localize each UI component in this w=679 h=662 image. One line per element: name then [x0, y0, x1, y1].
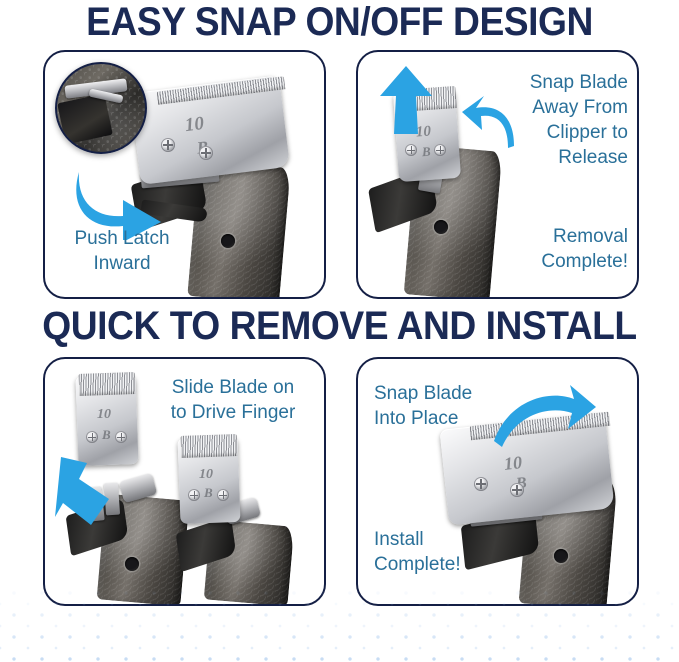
page-title-primary: EASY SNAP ON/OFF DESIGN	[24, 0, 655, 45]
blade-screw-right	[217, 489, 229, 501]
blade-screw-left	[405, 144, 417, 156]
blade-teeth	[79, 372, 136, 396]
blade-screw-left	[474, 477, 488, 491]
blade-screw-right	[115, 431, 127, 443]
clipper-body-port	[434, 220, 448, 234]
caption-push-latch: Push Latch Inward	[57, 226, 187, 276]
caption-removal-complete: Removal Complete!	[482, 224, 628, 274]
blade-screw-right	[510, 483, 524, 497]
blade-screw-right	[434, 144, 446, 156]
caption-snap-into-place: Snap Blade Into Place	[374, 381, 524, 431]
blade-screw-right	[199, 146, 213, 160]
magnified-latch-inset	[55, 62, 147, 154]
panel-push-latch: 10 B Push Latch Inward	[43, 50, 326, 299]
inset-latch-body	[57, 93, 113, 144]
blade-screw-left	[188, 489, 200, 501]
panel-snap-into-place: 10 B Snap Blade Into Place Install Compl…	[356, 357, 639, 606]
page-title-secondary: QUICK TO REMOVE AND INSTALL	[24, 304, 655, 349]
clipper-body-port	[125, 557, 139, 571]
panel-slide-blade: 10 B 10 B Slide Blade on to Drive Finger	[43, 357, 326, 606]
blade-screw-left	[86, 431, 98, 443]
panel-snap-blade-away: 10 B Snap Blade Away From Clipper to Rel…	[356, 50, 639, 299]
arrow-down-left-icon	[53, 457, 111, 529]
clipper-body-port	[221, 234, 235, 248]
blade-screw-left	[161, 138, 175, 152]
caption-slide-blade: Slide Blade on to Drive Finger	[153, 375, 313, 425]
blade-teeth	[181, 434, 238, 458]
arrow-up-icon	[378, 66, 434, 134]
clipper-body-port	[554, 549, 568, 563]
caption-install-complete: Install Complete!	[374, 527, 524, 577]
caption-snap-blade-away: Snap Blade Away From Clipper to Release	[482, 70, 628, 170]
